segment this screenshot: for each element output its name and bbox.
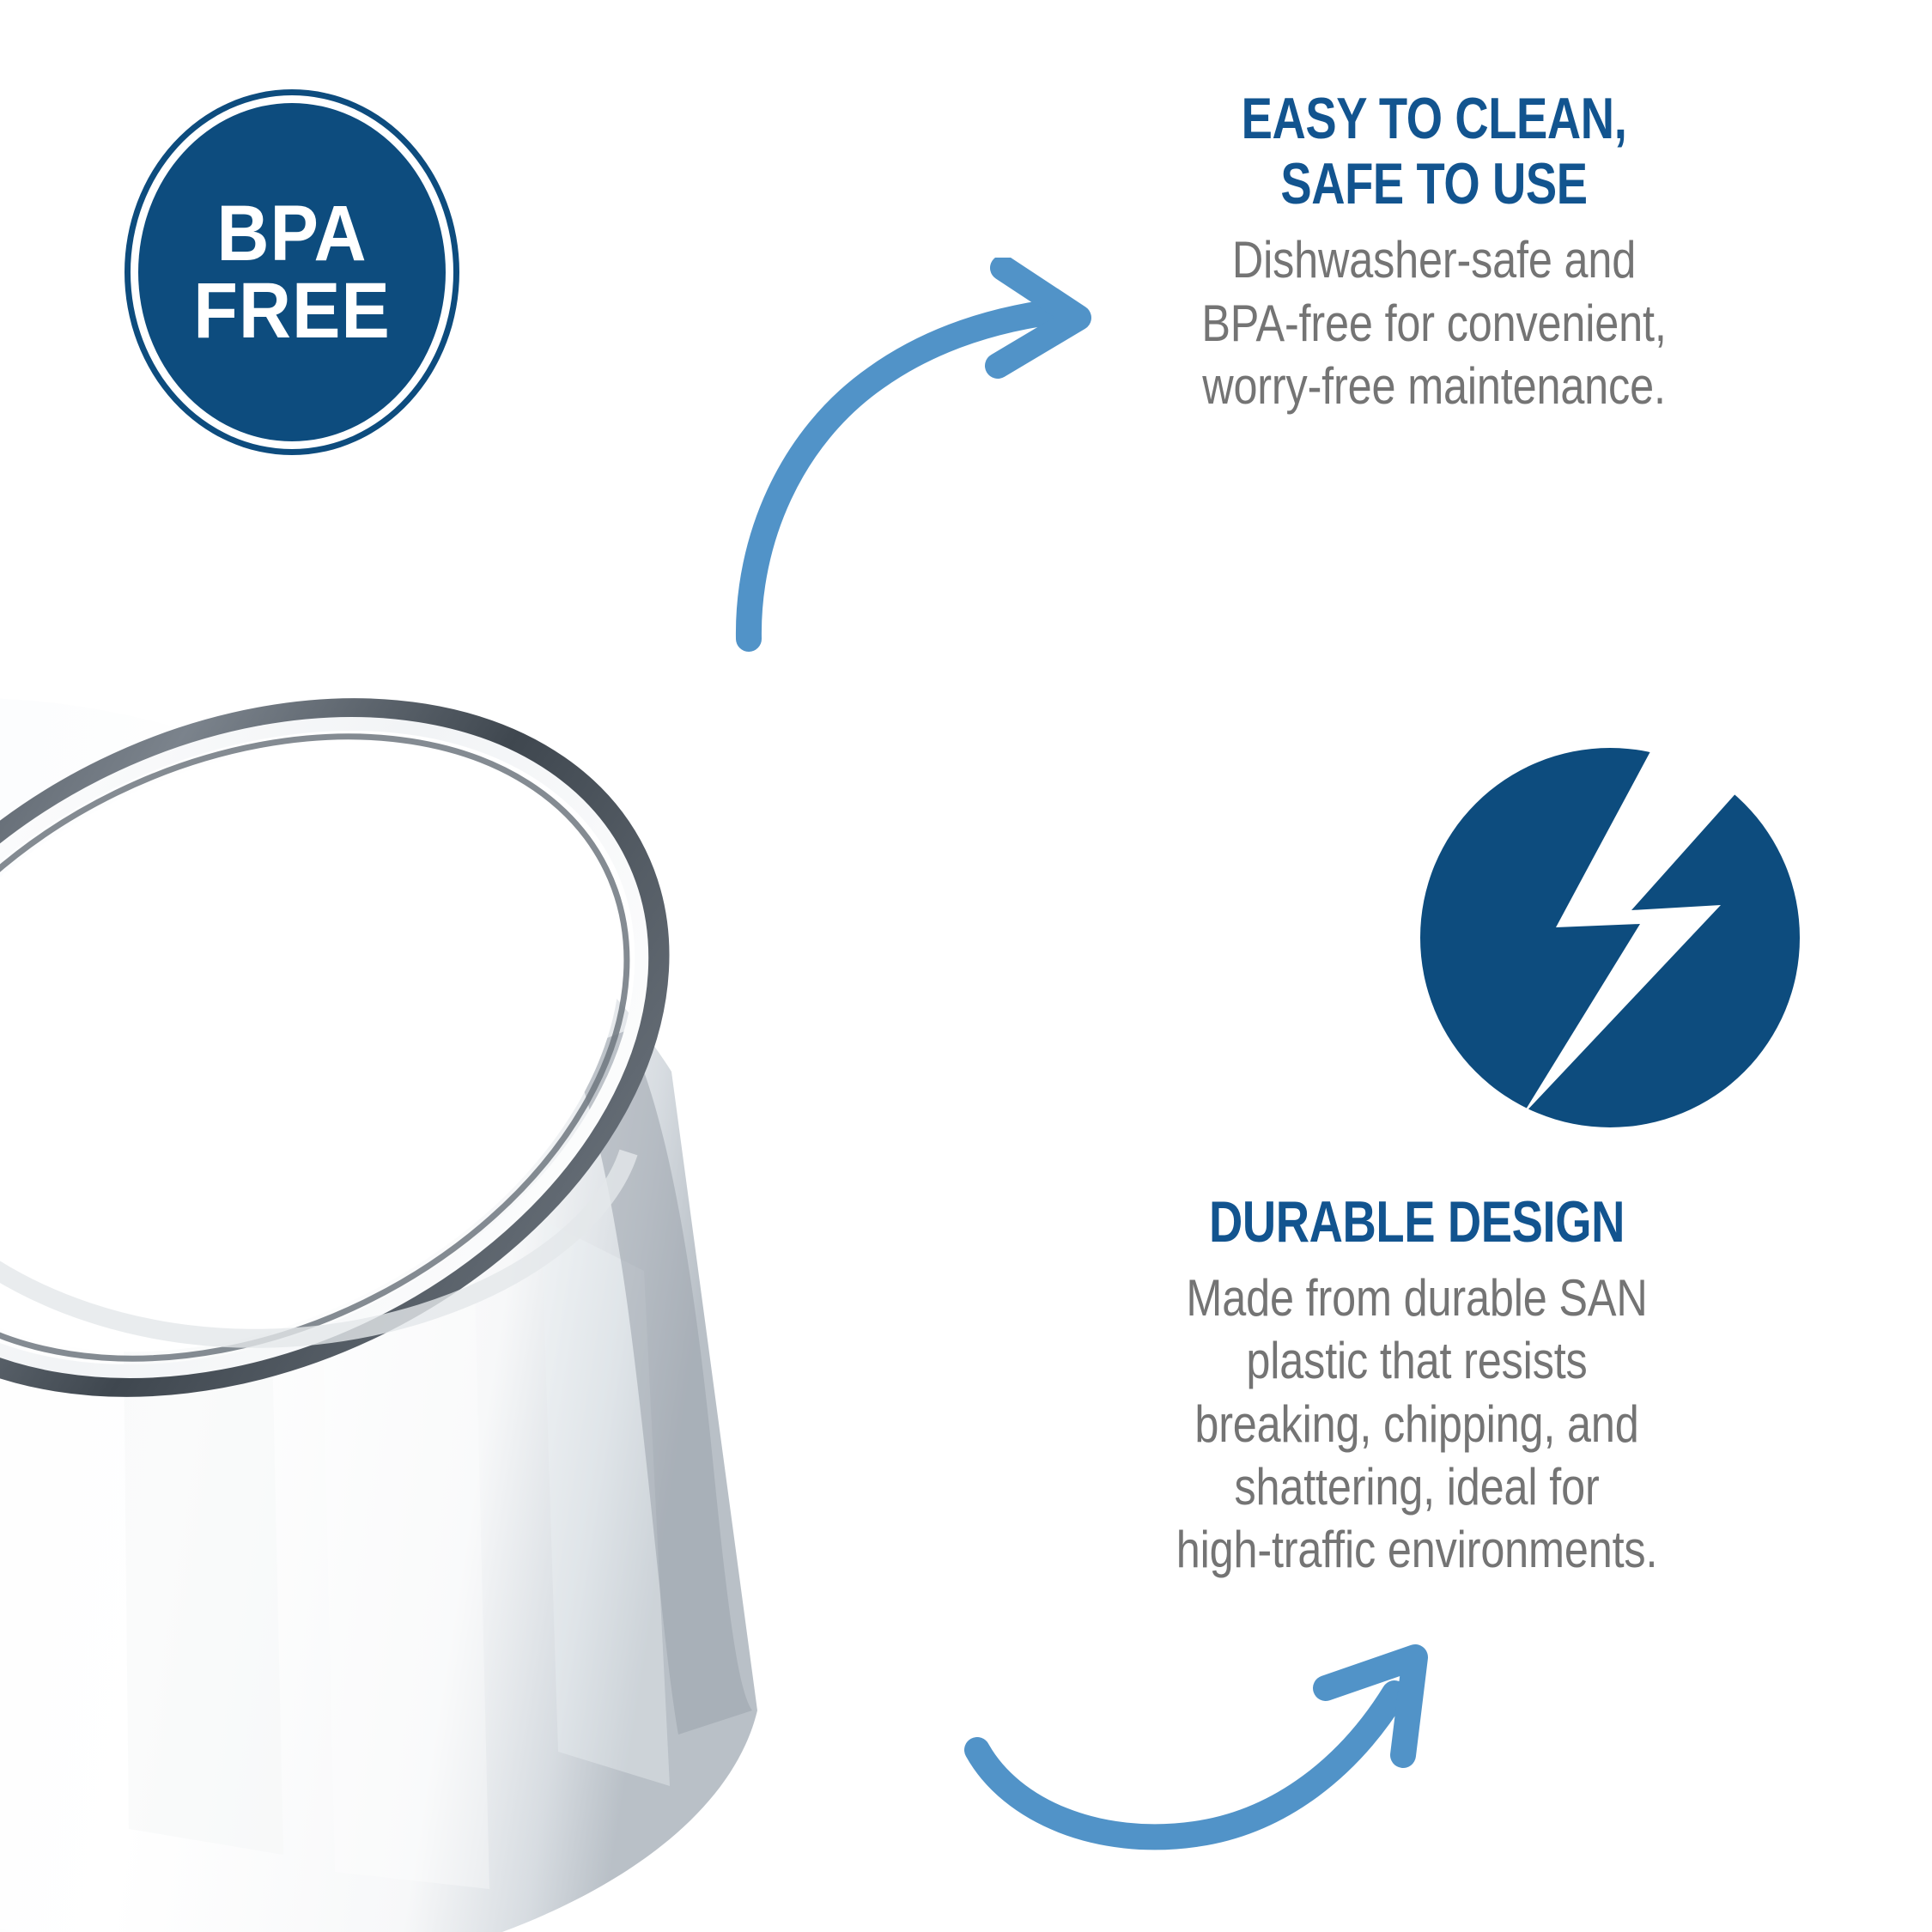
feature-easy-to-clean: EASY TO CLEAN, SAFE TO USE Dishwasher-sa… — [987, 86, 1880, 417]
feature-body-durable-design: Made from durable SAN plastic that resis… — [1020, 1267, 1814, 1581]
badge-line-1: BPA — [216, 195, 367, 272]
bpa-free-badge: BPA FREE — [125, 89, 459, 455]
feature-title-durable-design: DURABLE DESIGN — [1039, 1189, 1795, 1255]
feature-body-easy-to-clean: Dishwasher-safe and BPA-free for conveni… — [1059, 228, 1809, 417]
feature-title-easy-to-clean: EASY TO CLEAN, SAFE TO USE — [1077, 86, 1791, 216]
infographic-canvas: BPA FREE EASY TO CLEAN, SAFE TO USE Dish… — [0, 0, 1932, 1932]
lightning-bolt-icon — [1419, 747, 1801, 1128]
badge-line-2: FREE — [193, 272, 390, 349]
product-photo-tumbler — [0, 515, 987, 1932]
feature-durable-design: DURABLE DESIGN Made from durable SAN pla… — [945, 1189, 1889, 1581]
badge-text: BPA FREE — [138, 89, 447, 455]
curved-arrow-up-right-icon-bottom — [962, 1597, 1460, 1863]
